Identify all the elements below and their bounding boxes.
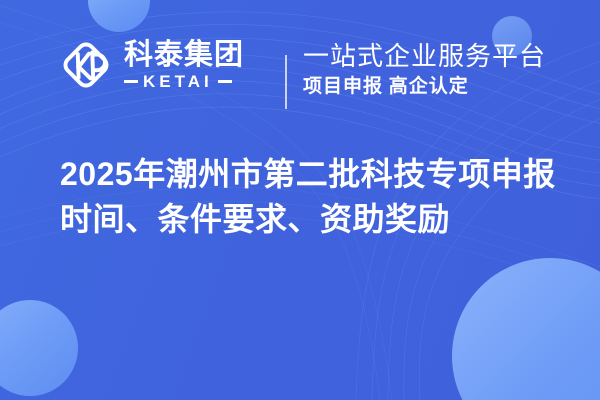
headline-line-2: 时间、条件要求、资助奖励	[60, 197, 560, 242]
ketai-diamond-kp-logo-icon	[58, 37, 114, 93]
tagline-main: 一站式企业服务平台	[303, 42, 546, 71]
brand-name-en: KETAI	[138, 73, 218, 90]
decorative-circle-bottom-left	[0, 300, 78, 396]
dash-right-icon	[218, 80, 232, 83]
decorative-circle-bottom-right	[452, 258, 600, 400]
header-divider	[285, 55, 287, 109]
brand-wordmark: 科泰集团 KETAI	[124, 40, 244, 90]
dash-left-icon	[124, 80, 138, 83]
brand-name-cn: 科泰集团	[124, 40, 244, 70]
tagline-sub: 项目申报 高企认定	[303, 77, 546, 98]
brand-name-en-row: KETAI	[124, 73, 244, 90]
headline: 2025年潮州市第二批科技专项申报 时间、条件要求、资助奖励	[60, 152, 560, 243]
promo-banner: 科泰集团 KETAI 一站式企业服务平台 项目申报 高企认定 2025年潮州市第…	[0, 0, 600, 400]
headline-line-1: 2025年潮州市第二批科技专项申报	[60, 152, 560, 197]
tagline-block: 一站式企业服务平台 项目申报 高企认定	[303, 42, 546, 98]
